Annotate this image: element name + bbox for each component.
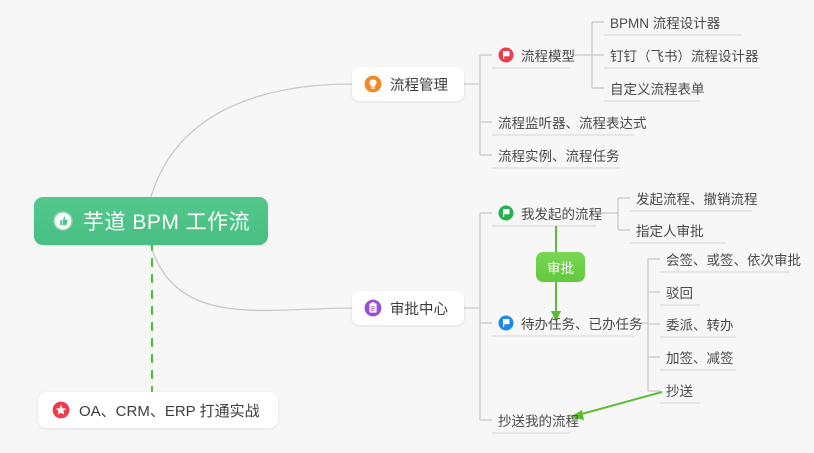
root-label: 芋道 BPM 工作流 <box>83 206 250 236</box>
node-label-cc: 抄送 <box>666 380 693 400</box>
lightbulb-icon <box>364 75 382 93</box>
flag-icon <box>498 315 514 331</box>
node-cc-to-me-process[interactable]: 抄送我的流程 <box>492 406 587 434</box>
node-my-initiated-process[interactable]: 我发起的流程 <box>492 199 610 227</box>
node-assignee-approval[interactable]: 指定人审批 <box>630 216 712 244</box>
node-custom-process-form[interactable]: 自定义流程表单 <box>604 74 713 102</box>
node-label-cc-to-me-process: 抄送我的流程 <box>498 410 579 430</box>
node-cc[interactable]: 抄送 <box>660 376 701 404</box>
node-label-delegate-transfer: 委派、转办 <box>666 314 734 334</box>
node-label-process-listener-expression: 流程监听器、流程表达式 <box>498 112 647 132</box>
node-label-todo-done-tasks: 待办任务、已办任务 <box>521 313 643 333</box>
node-countersign-or-sign-sequential[interactable]: 会签、或签、依次审批 <box>660 245 809 273</box>
node-process-listener-expression[interactable]: 流程监听器、流程表达式 <box>492 108 655 136</box>
node-label-add-remove-sign: 加签、减签 <box>666 347 734 367</box>
flag-icon <box>498 47 514 63</box>
root-node[interactable]: 芋道 BPM 工作流 <box>34 197 268 245</box>
node-label-reject: 驳回 <box>666 282 693 302</box>
edge-root-to-process-management <box>150 84 352 200</box>
node-label-start-cancel-process: 发起流程、撤销流程 <box>636 188 758 208</box>
node-label-countersign-or-sign-sequential: 会签、或签、依次审批 <box>666 249 801 269</box>
clipboard-icon <box>364 299 382 317</box>
node-add-remove-sign[interactable]: 加签、减签 <box>660 343 742 371</box>
node-bpmn-designer[interactable]: BPMN 流程设计器 <box>604 8 728 36</box>
node-label-assignee-approval: 指定人审批 <box>636 220 704 240</box>
branch-label-process-management: 流程管理 <box>390 74 448 95</box>
approval-badge[interactable]: 审批 <box>536 252 585 282</box>
integration-tag[interactable]: OA、CRM、ERP 打通实战 <box>38 392 278 428</box>
branch-node-approval-center[interactable]: 审批中心 <box>352 291 464 325</box>
flag-icon <box>498 205 514 221</box>
thumbs-up-icon <box>52 210 74 232</box>
node-label-custom-process-form: 自定义流程表单 <box>610 78 705 98</box>
node-label-process-instance-task: 流程实例、流程任务 <box>498 145 620 165</box>
approval-badge-label: 审批 <box>547 257 574 277</box>
node-label-dingtalk-feishu-designer: 钉钉（飞书）流程设计器 <box>610 45 759 65</box>
arrow-cc-to-ccme-line <box>578 392 662 415</box>
node-start-cancel-process[interactable]: 发起流程、撤销流程 <box>630 184 766 212</box>
edge-root-to-approval-center <box>150 243 352 310</box>
node-label-my-initiated-process: 我发起的流程 <box>521 203 602 223</box>
star-icon <box>52 401 70 419</box>
integration-tag-label: OA、CRM、ERP 打通实战 <box>79 400 260 421</box>
node-label-process-model: 流程模型 <box>521 45 575 65</box>
node-process-model[interactable]: 流程模型 <box>492 41 583 69</box>
branch-label-approval-center: 审批中心 <box>390 298 448 319</box>
node-todo-done-tasks[interactable]: 待办任务、已办任务 <box>492 309 651 337</box>
node-dingtalk-feishu-designer[interactable]: 钉钉（飞书）流程设计器 <box>604 41 767 69</box>
branch-node-process-management[interactable]: 流程管理 <box>352 67 464 101</box>
node-delegate-transfer[interactable]: 委派、转办 <box>660 310 742 338</box>
mindmap-canvas: 芋道 BPM 工作流 流程管理 流程模型 BPMN 流程设计器 钉钉（飞书）流程… <box>0 0 814 453</box>
node-label-bpmn-designer: BPMN 流程设计器 <box>610 12 720 32</box>
node-process-instance-task[interactable]: 流程实例、流程任务 <box>492 141 628 169</box>
node-reject[interactable]: 驳回 <box>660 278 701 306</box>
